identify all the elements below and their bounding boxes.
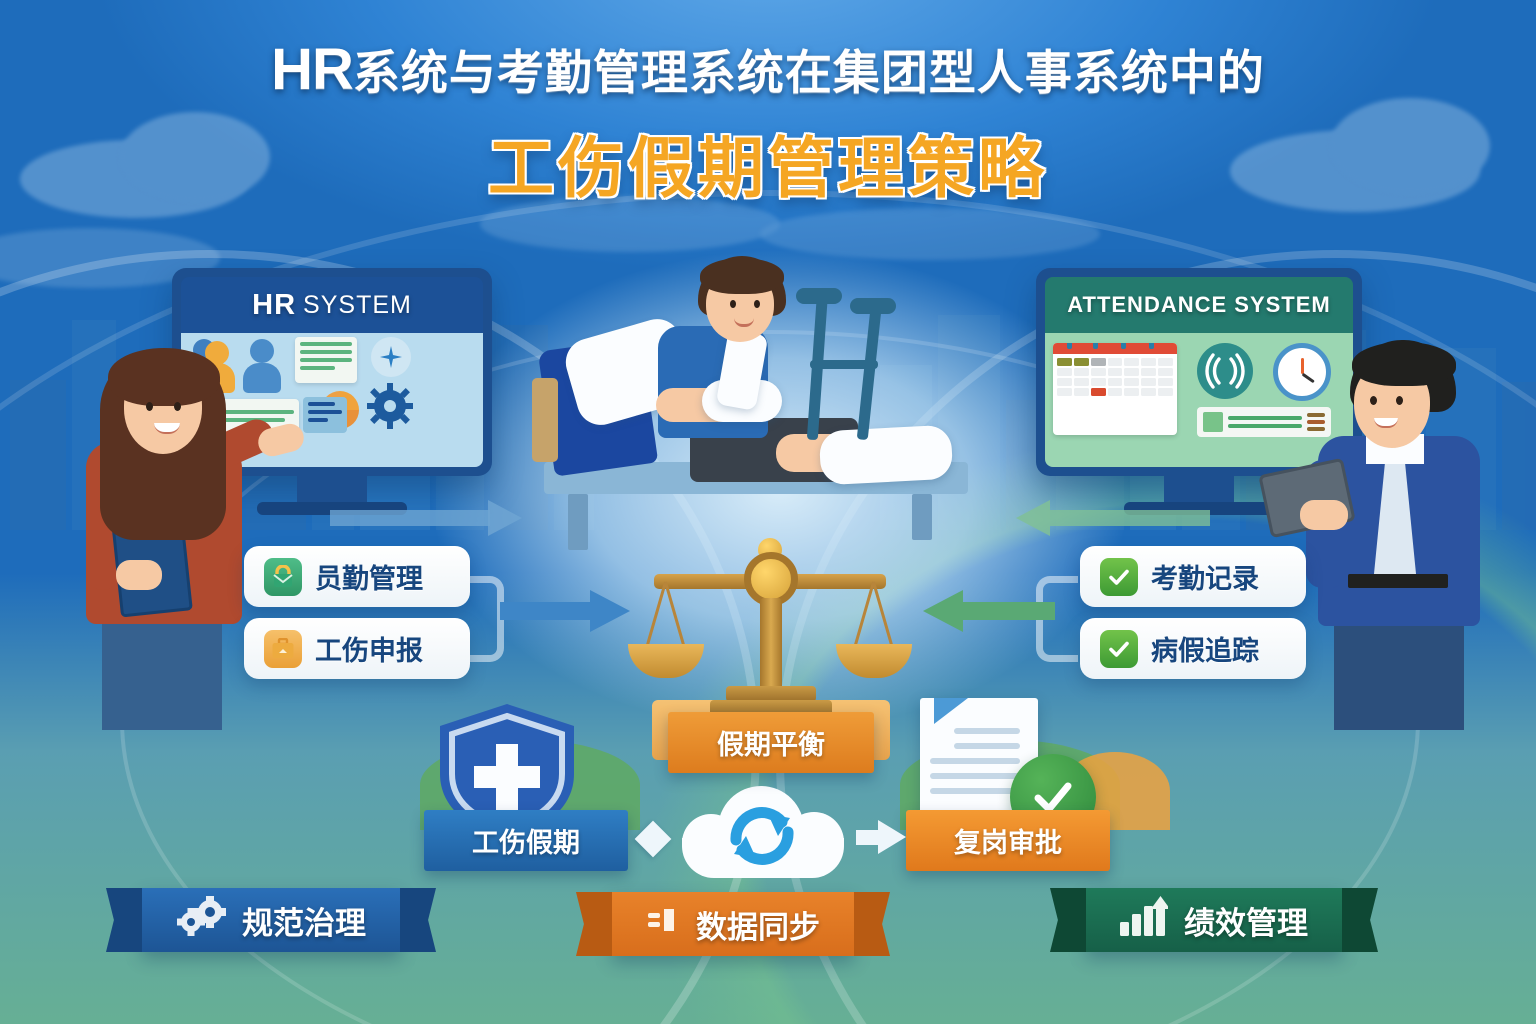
attendance-card-records[interactable]: 考勤记录 bbox=[1080, 546, 1306, 607]
title-block: HR系统与考勤管理系统在集团型人事系统中的 工伤假期管理策略 bbox=[0, 34, 1536, 211]
crutch-right bbox=[857, 300, 883, 440]
title-line-2: 工伤假期管理策略 bbox=[0, 115, 1536, 211]
arrow-attendance-to-center-mid bbox=[915, 590, 1055, 630]
scale-left-string-b bbox=[664, 582, 685, 646]
gears-glyph bbox=[176, 896, 226, 936]
scale-right-string-b bbox=[872, 582, 893, 646]
bed-headboard-wood bbox=[532, 378, 558, 462]
scan-waves-glyph bbox=[1197, 343, 1253, 399]
hr-card-injury-report[interactable]: 工伤申报 bbox=[244, 618, 470, 679]
flow-badge-label: 工伤假期 bbox=[472, 828, 580, 858]
infographic-canvas: HR系统与考勤管理系统在集团型人事系统中的 工伤假期管理策略 HR SYSTEM bbox=[0, 0, 1536, 1024]
check-glyph bbox=[1107, 637, 1131, 661]
title-line-1-text: 系统与考勤管理系统在集团型人事系统中的 bbox=[353, 46, 1265, 99]
check-glyph bbox=[1107, 565, 1131, 589]
sync-arrows-glyph bbox=[716, 792, 808, 878]
attendance-monitor-header: ATTENDANCE SYSTEM bbox=[1045, 277, 1353, 333]
hr-monitor-neck bbox=[297, 476, 367, 502]
scale-column bbox=[760, 598, 782, 698]
sync-spinner-icon bbox=[371, 337, 411, 377]
green-check-icon bbox=[1100, 558, 1138, 596]
injured-employee-scene bbox=[520, 248, 1020, 578]
man-belt bbox=[1348, 574, 1448, 588]
gears-icon bbox=[176, 896, 226, 944]
hr-card-label: 员勤管理 bbox=[315, 557, 423, 596]
arrow-hr-to-center-top bbox=[330, 500, 540, 536]
sync-bars-icon bbox=[646, 903, 680, 945]
flow-badge-return-approval[interactable]: 复岗审批 bbox=[906, 810, 1110, 871]
ribbon-label: 规范治理 bbox=[242, 898, 366, 943]
green-check-icon bbox=[1100, 630, 1138, 668]
arrow-attendance-to-center-top bbox=[1000, 500, 1210, 536]
worker-hair-front bbox=[700, 258, 784, 294]
worker-eye-left bbox=[730, 300, 736, 308]
calendar-grid bbox=[1053, 354, 1177, 400]
attendance-card-label: 考勤记录 bbox=[1151, 557, 1259, 596]
hr-monitor-header: HR SYSTEM bbox=[181, 277, 483, 333]
attendance-card-sickleave[interactable]: 病假追踪 bbox=[1080, 618, 1306, 679]
attendance-manager-man bbox=[1292, 330, 1522, 730]
flow-arrow-right bbox=[856, 818, 906, 858]
crutch-left-handle bbox=[796, 288, 842, 304]
hr-header-bold: HR bbox=[252, 289, 296, 322]
sync-bars-glyph bbox=[646, 903, 680, 937]
attendance-card-label: 病假追踪 bbox=[1151, 629, 1259, 668]
woman-eye-left bbox=[146, 402, 153, 411]
scale-banner: 假期平衡 bbox=[668, 712, 874, 773]
cloud-sync-icon bbox=[672, 778, 852, 883]
man-eye-left bbox=[1370, 396, 1377, 405]
attendance-monitor-neck bbox=[1164, 476, 1234, 502]
man-hand-on-tablet bbox=[1300, 500, 1348, 530]
worker-eye-right bbox=[754, 300, 760, 308]
bar-chart-arrow-glyph bbox=[1120, 896, 1168, 936]
leg-cast bbox=[819, 425, 954, 486]
flow-badge-label: 复岗审批 bbox=[954, 828, 1062, 858]
doc-corner-fold bbox=[934, 698, 968, 724]
scale-left-pan bbox=[628, 644, 704, 678]
bottom-ribbon-governance[interactable]: 规范治理 bbox=[142, 888, 400, 952]
briefcase-glyph bbox=[271, 638, 295, 660]
ribbon-label: 数据同步 bbox=[696, 902, 820, 947]
crutch-right-handle bbox=[850, 298, 896, 314]
ribbon-label: 绩效管理 bbox=[1184, 898, 1308, 943]
scale-left-string-a bbox=[646, 582, 667, 646]
man-hair-front bbox=[1352, 342, 1456, 386]
document-list-icon bbox=[295, 337, 357, 383]
title-hr-abbr: HR bbox=[271, 37, 353, 102]
bed-leg-left bbox=[568, 494, 588, 550]
woman-hair-front bbox=[108, 348, 220, 406]
settings-gear-icon bbox=[367, 383, 413, 434]
note-card-icon bbox=[303, 397, 347, 433]
woman-eye-right bbox=[174, 402, 181, 411]
fingerprint-scan-icon bbox=[1197, 343, 1253, 399]
spinner-glyph bbox=[378, 344, 404, 370]
calendar-icon bbox=[1053, 343, 1177, 435]
scales-of-justice bbox=[640, 538, 900, 738]
hr-card-label: 工伤申报 bbox=[315, 629, 423, 668]
hr-card-attendance-mgmt[interactable]: 员勤管理 bbox=[244, 546, 470, 607]
bottom-ribbon-performance[interactable]: 绩效管理 bbox=[1086, 888, 1342, 952]
bottom-ribbon-data-sync[interactable]: 数据同步 bbox=[612, 892, 854, 956]
woman-hand-on-clipboard bbox=[116, 560, 162, 590]
arrow-hr-to-center-mid bbox=[500, 590, 640, 630]
orange-briefcase-icon bbox=[264, 630, 302, 668]
title-line-1: HR系统与考勤管理系统在集团型人事系统中的 bbox=[0, 34, 1536, 103]
bed-leg-right bbox=[912, 494, 932, 540]
scale-right-string-a bbox=[854, 582, 875, 646]
hr-header-rest: SYSTEM bbox=[303, 291, 412, 320]
lock-glyph bbox=[272, 565, 294, 589]
crutch-crossbar bbox=[810, 360, 878, 369]
bar-chart-arrow-icon bbox=[1120, 896, 1168, 944]
gear-glyph bbox=[367, 383, 413, 429]
green-lock-icon bbox=[264, 558, 302, 596]
flow-badge-injury-leave[interactable]: 工伤假期 bbox=[424, 810, 628, 871]
man-eye-right bbox=[1396, 396, 1403, 405]
scale-banner-label: 假期平衡 bbox=[717, 730, 825, 760]
